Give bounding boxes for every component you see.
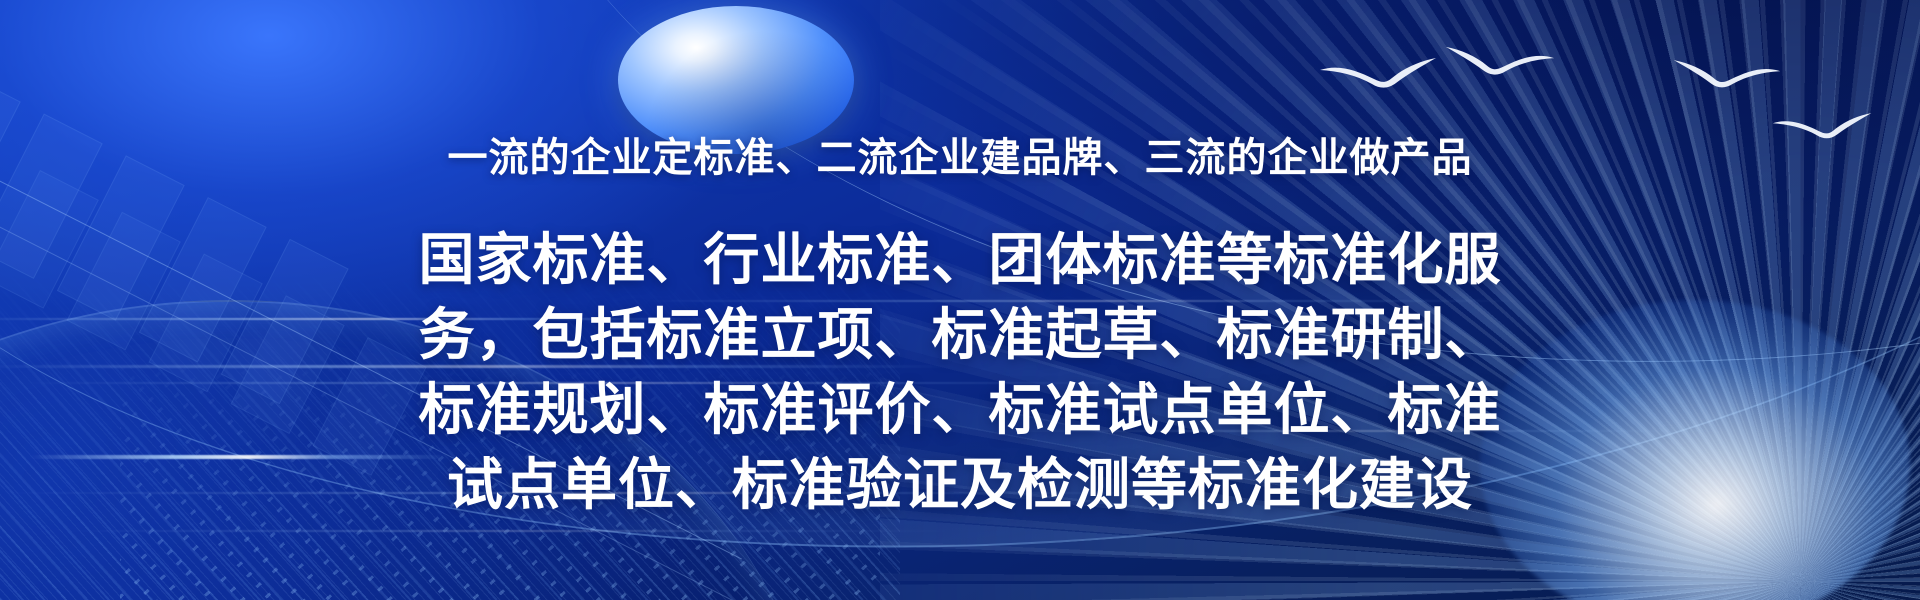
banner-body-copy: 国家标准、行业标准、团体标准等标准化服务，包括标准立项、标准起草、标准研制、标准… [310,222,1610,522]
promo-banner: 一流的企业定标准、二流企业建品牌、三流的企业做产品 国家标准、行业标准、团体标准… [0,0,1920,600]
banner-body-line: 试点单位、标准验证及检测等标准化建设 [310,447,1610,522]
seagull-icon [1770,108,1874,142]
banner-body-line: 标准规划、标准评价、标准试点单位、标准 [310,372,1610,447]
seagull-icon [1672,54,1782,92]
banner-content: 一流的企业定标准、二流企业建品牌、三流的企业做产品 国家标准、行业标准、团体标准… [310,0,1610,522]
light-streak [60,530,960,532]
banner-body-line: 国家标准、行业标准、团体标准等标准化服 [310,222,1610,297]
banner-headline: 一流的企业定标准、二流企业建品牌、三流的企业做产品 [310,136,1610,180]
banner-body-line: 务，包括标准立项、标准起草、标准研制、 [310,297,1610,372]
